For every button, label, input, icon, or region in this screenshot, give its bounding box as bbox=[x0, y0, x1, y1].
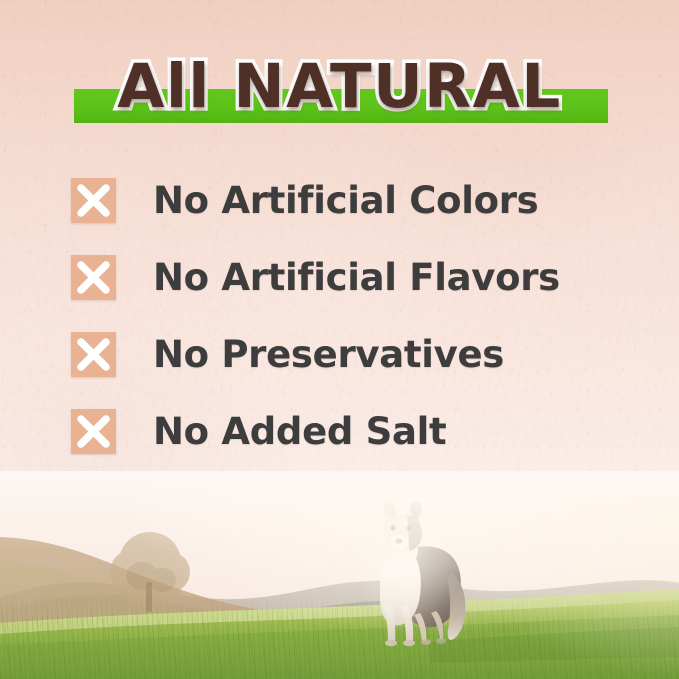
grass-texture bbox=[0, 597, 679, 679]
claim-label: No Artificial Flavors bbox=[153, 255, 560, 300]
x-mark-icon bbox=[71, 255, 116, 300]
x-mark-icon bbox=[71, 178, 116, 223]
x-mark-icon bbox=[71, 332, 116, 377]
dog bbox=[352, 499, 480, 655]
headline-text: All NATURAL bbox=[0, 52, 679, 122]
claim-row: No Preservatives bbox=[71, 332, 631, 409]
claim-label: No Added Salt bbox=[153, 409, 446, 454]
claims-list: No Artificial Colors No Artificial Flavo… bbox=[71, 178, 631, 486]
claim-label: No Artificial Colors bbox=[153, 178, 538, 223]
poster: All NATURAL No Artificial Colors bbox=[0, 0, 679, 679]
claim-label: No Preservatives bbox=[153, 332, 504, 377]
landscape-photo bbox=[0, 471, 679, 679]
claim-row: No Artificial Colors bbox=[71, 178, 631, 255]
x-mark-icon bbox=[71, 409, 116, 454]
claim-row: No Artificial Flavors bbox=[71, 255, 631, 332]
headline-banner: All NATURAL bbox=[0, 52, 679, 132]
photo-top-blend bbox=[0, 471, 679, 509]
